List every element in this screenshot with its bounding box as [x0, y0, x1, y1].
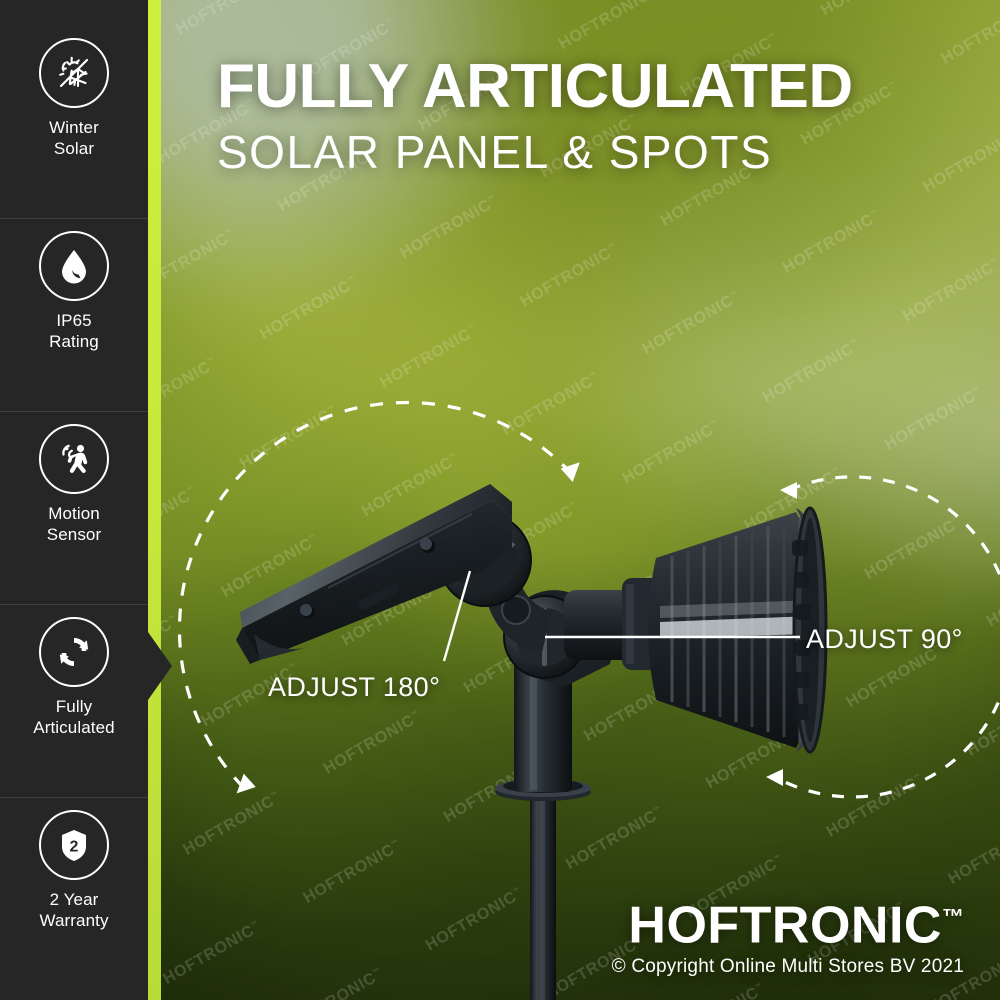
- feature-label: FullyArticulated: [33, 696, 114, 738]
- ground-stake: [495, 779, 591, 1000]
- feature-label-line1: IP65: [49, 310, 99, 331]
- feature-winter[interactable]: WinterSolar: [0, 26, 148, 218]
- shield-2-icon: 2: [39, 810, 109, 880]
- feature-label: 2 YearWarranty: [39, 889, 108, 931]
- feature-label-line2: Rating: [49, 331, 99, 352]
- brand-name: HOFTRONIC™: [612, 889, 964, 953]
- feature-label-line2: Solar: [49, 138, 99, 159]
- headline-block: FULLY ARTICULATED SOLAR PANEL & SPOTS: [217, 55, 853, 181]
- feature-ip65[interactable]: IP65Rating: [0, 218, 148, 411]
- brand-name-text: HOFTRONIC: [628, 896, 942, 954]
- fully-articulated-pointer-arrow: [148, 632, 172, 700]
- trademark-symbol: ™: [942, 904, 964, 929]
- winter-solar-icon: [39, 38, 109, 108]
- feature-fully[interactable]: FullyArticulated: [0, 604, 148, 797]
- rotate-icon: [39, 617, 109, 687]
- water-drop-icon: [39, 231, 109, 301]
- feature-label-line2: Sensor: [47, 524, 101, 545]
- solar-panel: [236, 484, 512, 664]
- feature-label-line2: Articulated: [33, 717, 114, 738]
- feature-label-line1: Fully: [33, 696, 114, 717]
- svg-text:2: 2: [70, 839, 79, 856]
- accent-stripe: [148, 0, 161, 1000]
- feature-label-line1: 2 Year: [39, 889, 108, 910]
- lamp-neck: [564, 578, 662, 670]
- spotlight-head: [648, 508, 826, 752]
- headline-main: FULLY ARTICULATED: [217, 55, 853, 119]
- feature-label: WinterSolar: [49, 117, 99, 159]
- copyright-text: © Copyright Online Multi Stores BV 2021: [612, 954, 964, 980]
- product-marketing-image: HOFTRONIC™HOFTRONIC™HOFTRONIC™HOFTRONIC™…: [0, 0, 1000, 1000]
- feature-label: MotionSensor: [47, 503, 101, 545]
- feature-2-year[interactable]: 2 2 YearWarranty: [0, 797, 148, 990]
- headline-sub: SOLAR PANEL & SPOTS: [217, 123, 853, 181]
- brand-block: HOFTRONIC™ © Copyright Online Multi Stor…: [612, 889, 964, 980]
- feature-label: IP65Rating: [49, 310, 99, 352]
- feature-label-line1: Motion: [47, 503, 101, 524]
- feature-sidebar: WinterSolar IP65Rating MotionSensor: [0, 0, 148, 1000]
- feature-label-line1: Winter: [49, 117, 99, 138]
- feature-label-line2: Warranty: [39, 910, 108, 931]
- motion-sensor-icon: [39, 424, 109, 494]
- feature-motion[interactable]: MotionSensor: [0, 411, 148, 604]
